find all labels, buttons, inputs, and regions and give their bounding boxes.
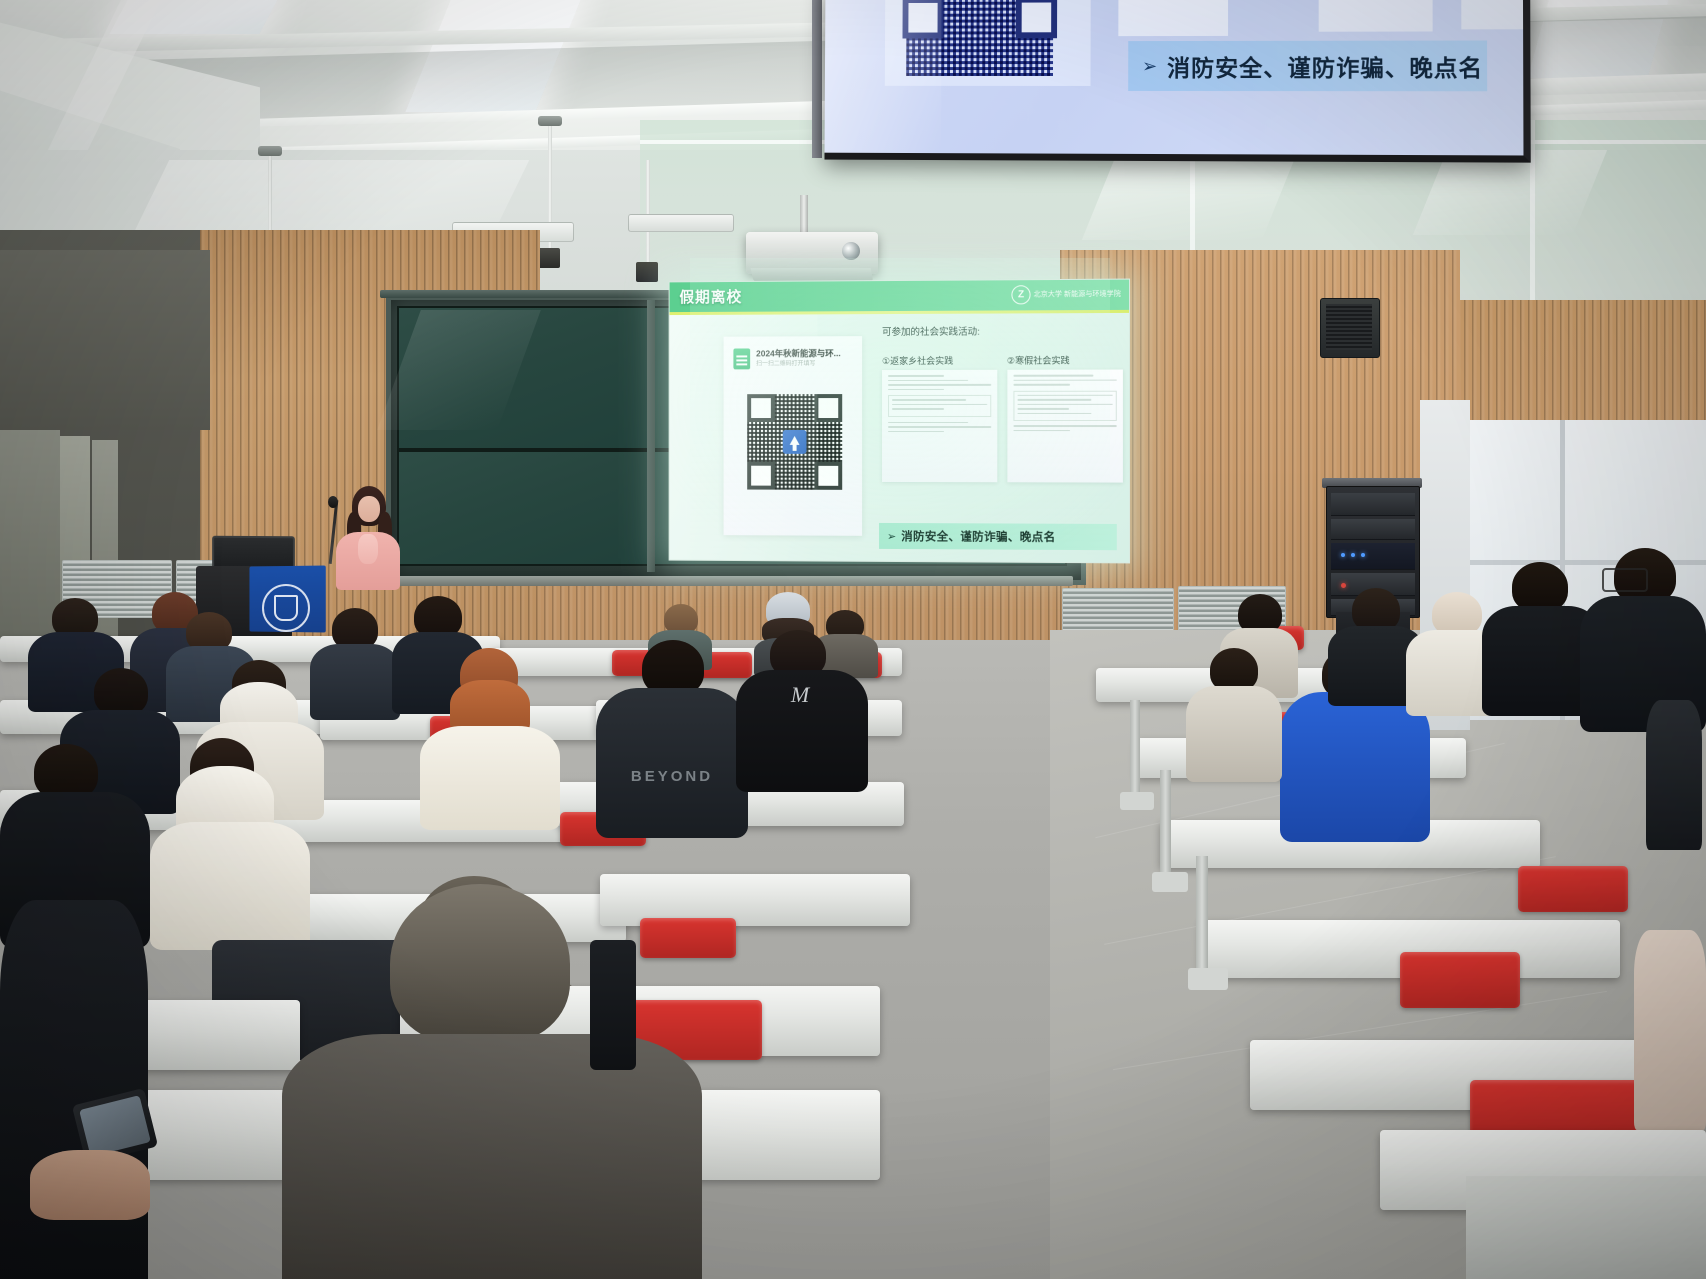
tv-glare: [825, 0, 942, 153]
student-coat: [1186, 686, 1282, 782]
slide-body: 2024年秋新能源与环... 扫一扫二维码打开填写 可参加的社会实践活动: ①返…: [670, 313, 1129, 563]
slide-title-tab: 假期离校: [679, 286, 742, 307]
glass-reflection: [1082, 150, 1298, 240]
presenter: [334, 486, 400, 590]
student: BEYOND: [596, 640, 748, 836]
overhead-display: ➢ 消防安全、谨防诈骗、晚点名: [824, 0, 1530, 163]
seat: [1400, 952, 1520, 1008]
student-head: [94, 668, 148, 716]
slide-section-title: 可参加的社会实践活动:: [882, 326, 980, 340]
desk-foot: [1120, 792, 1154, 810]
glasses-icon: [1602, 568, 1648, 592]
rack-unit: [1331, 493, 1415, 516]
projection-screen: 假期离校 Z 北京大学 新能源与环境学院 2024年秋新能源与环... 扫一扫二…: [669, 279, 1130, 564]
rack-status-led: [1351, 553, 1355, 557]
doc-thumbnail: [882, 370, 997, 482]
seal-shield-icon: [274, 595, 298, 621]
tv-doc-thumb: [1118, 0, 1228, 36]
doc-thumbnail: [1007, 369, 1123, 482]
qr-finder-pattern: [1016, 0, 1057, 38]
logo-text: 北京大学 新能源与环境学院: [1034, 291, 1121, 299]
student: [420, 648, 560, 828]
chevron-right-icon: ➢: [1142, 56, 1157, 77]
wall-speaker-grille: [1326, 304, 1372, 350]
left-wall-upper: [0, 250, 210, 430]
desk-foot: [1152, 872, 1188, 892]
qr-finder-pattern: [814, 462, 842, 490]
student-head: [1512, 562, 1568, 612]
practice-item: ①返家乡社会实践: [882, 354, 997, 483]
student-foreground: [282, 884, 702, 1279]
screen-glare: [670, 314, 818, 560]
student-jacket: [0, 900, 148, 1279]
tv-bezel: [812, 0, 822, 158]
slide-banner-text: 消防安全、谨防诈骗、晚点名: [901, 528, 1055, 545]
student-blue-puffer: [1280, 692, 1430, 842]
institution-logo: Z 北京大学 新能源与环境学院: [1011, 285, 1120, 305]
rack-status-led: [1361, 553, 1365, 557]
pendant-light-bar: [628, 214, 734, 232]
student: [1634, 930, 1706, 1130]
tv-banner-text: 消防安全、谨防诈骗、晚点名: [1167, 49, 1483, 84]
blackboard-panel-lower-left: [397, 450, 653, 566]
doc-inner-box: [1013, 390, 1117, 421]
seat: [1518, 866, 1628, 912]
student: M: [736, 630, 868, 790]
chevron-right-icon: ➢: [887, 529, 896, 542]
rack-unit: [1331, 519, 1415, 540]
practice-item: ②寒假社会实践: [1007, 353, 1123, 482]
tv-doc-thumb: [1461, 0, 1523, 29]
tv-doc-thumb: [1319, 0, 1433, 32]
logo-mark-icon: Z: [1011, 285, 1030, 304]
desk-foot: [1188, 968, 1228, 990]
jacket-print: M: [770, 682, 830, 722]
rack-status-led: [1341, 553, 1345, 557]
pendant-speaker-box: [636, 262, 658, 282]
backpack-strap: [590, 940, 636, 1070]
student-head: [390, 884, 570, 1044]
overhead-display-content: ➢ 消防安全、谨防诈骗、晚点名: [825, 0, 1524, 155]
student-jacket: [1646, 700, 1702, 850]
presenter-face: [358, 496, 380, 522]
student-puffer: [596, 688, 748, 838]
blackboard-divider: [647, 300, 655, 572]
practice-items-row: ①返家乡社会实践: [882, 353, 1123, 482]
qr-finder-pattern: [814, 394, 842, 422]
student: [1186, 648, 1282, 778]
chalk-rail: [395, 576, 1073, 586]
desk-front-panel: [1466, 1176, 1706, 1279]
pendant-speaker: [538, 116, 562, 126]
jacket-print: BEYOND: [630, 768, 714, 788]
student: [1640, 700, 1706, 860]
hand: [30, 1150, 150, 1220]
projector-lens: [842, 242, 860, 260]
pendant-speaker-box: [538, 248, 560, 268]
practice-item-label: ①返家乡社会实践: [882, 354, 997, 367]
presenter-collar: [358, 534, 378, 564]
student-coat: [1634, 930, 1706, 1130]
student-shirt: [282, 1034, 702, 1279]
doc-inner-box: [888, 395, 991, 417]
pendant-speaker: [258, 146, 282, 156]
tv-highlight-banner: ➢ 消防安全、谨防诈骗、晚点名: [1128, 41, 1487, 92]
practice-item-label: ②寒假社会实践: [1007, 353, 1123, 366]
university-seal-icon: [262, 584, 310, 632]
slide-highlight-banner: ➢ 消防安全、谨防诈骗、晚点名: [879, 523, 1117, 550]
lecture-hall-photo: ➢ 消防安全、谨防诈骗、晚点名 假期离校 Z 北京大学 新能源与环境学院 202…: [0, 0, 1706, 1279]
desk-leg: [1196, 856, 1208, 976]
desk-leg: [1130, 700, 1140, 800]
student-coat: [420, 726, 560, 830]
desk-leg: [1160, 770, 1171, 880]
